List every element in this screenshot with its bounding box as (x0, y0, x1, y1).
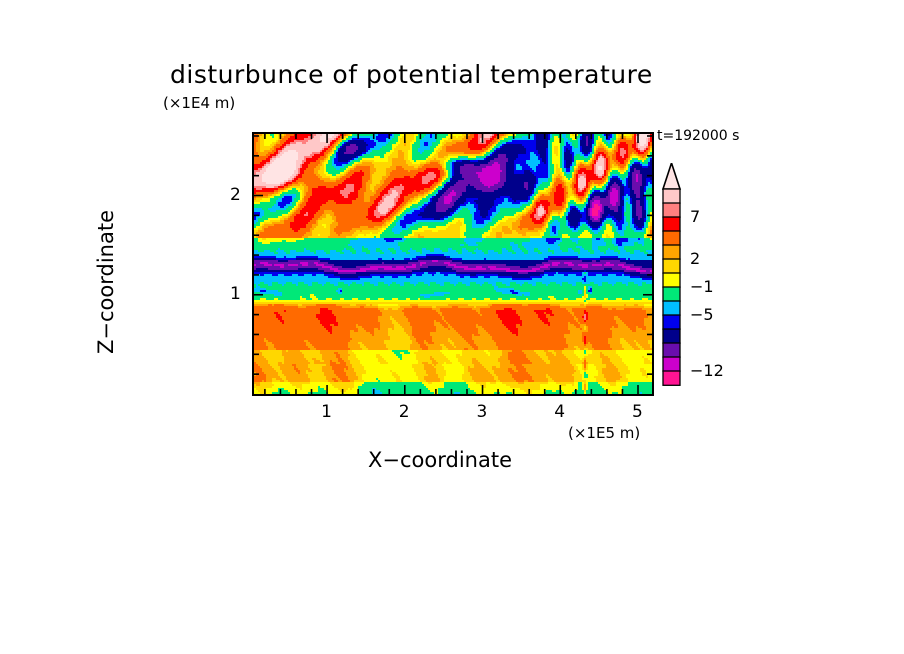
contour-plot-figure: disturbunce of potential temperature (×1… (0, 0, 904, 654)
page-title: disturbunce of potential temperature (170, 60, 653, 89)
x-tick-label: 3 (477, 402, 488, 422)
colorbar-tick-label: −5 (690, 305, 714, 324)
y-axis-title: Z−coordinate (94, 162, 118, 402)
colorbar: 72−1−5−12 (655, 163, 695, 403)
colorbar-tick-label: −12 (690, 361, 724, 380)
y-tick-label: 1 (230, 284, 241, 304)
plot-area (252, 132, 654, 396)
x-tick-label: 1 (321, 402, 332, 422)
x-unit-label: (×1E5 m) (568, 424, 640, 442)
z-unit-label: (×1E4 m) (163, 94, 235, 112)
contour-field (254, 134, 652, 394)
colorbar-tick-label: −1 (690, 277, 714, 296)
x-tick-label: 5 (632, 402, 643, 422)
y-tick-label: 2 (230, 185, 241, 205)
colorbar-svg (655, 163, 775, 391)
colorbar-tick-label: 7 (690, 207, 700, 226)
colorbar-tick-label: 2 (690, 249, 700, 268)
x-axis-title: X−coordinate (368, 448, 512, 472)
x-tick-label: 2 (399, 402, 410, 422)
timestamp-label: t=192000 s (657, 128, 739, 144)
x-tick-label: 4 (554, 402, 565, 422)
